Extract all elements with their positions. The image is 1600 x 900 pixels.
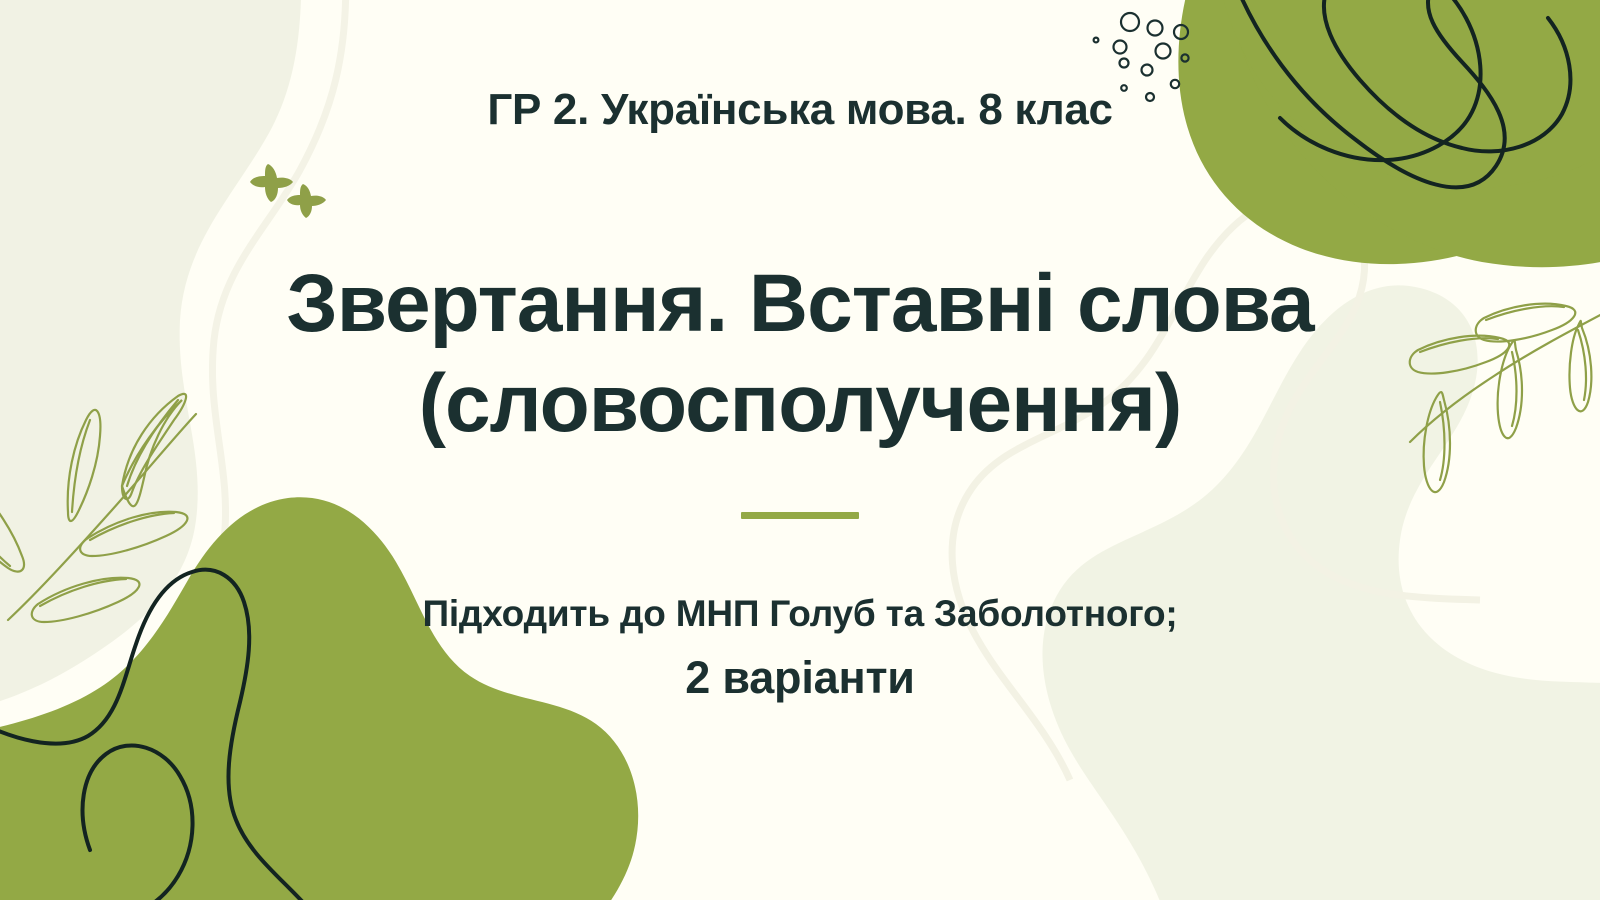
title-line-1: Звертання. Вставні слова — [220, 254, 1380, 354]
footer-line-1: Підходить до МНП Голуб та Заболотного; — [422, 585, 1177, 642]
title-line-2: (словосполучення) — [220, 354, 1380, 454]
footer-line-2: 2 варіанти — [422, 643, 1177, 713]
slide-content: ГР 2. Українська мова. 8 клас Звертання.… — [0, 0, 1600, 900]
slide-canvas: ГР 2. Українська мова. 8 клас Звертання.… — [0, 0, 1600, 900]
course-subtitle: ГР 2. Українська мова. 8 клас — [487, 86, 1112, 134]
divider — [741, 512, 859, 519]
page-title: Звертання. Вставні слова (словосполученн… — [220, 254, 1380, 454]
divider-container — [0, 512, 1600, 519]
footer-note: Підходить до МНП Голуб та Заболотного; 2… — [422, 585, 1177, 712]
